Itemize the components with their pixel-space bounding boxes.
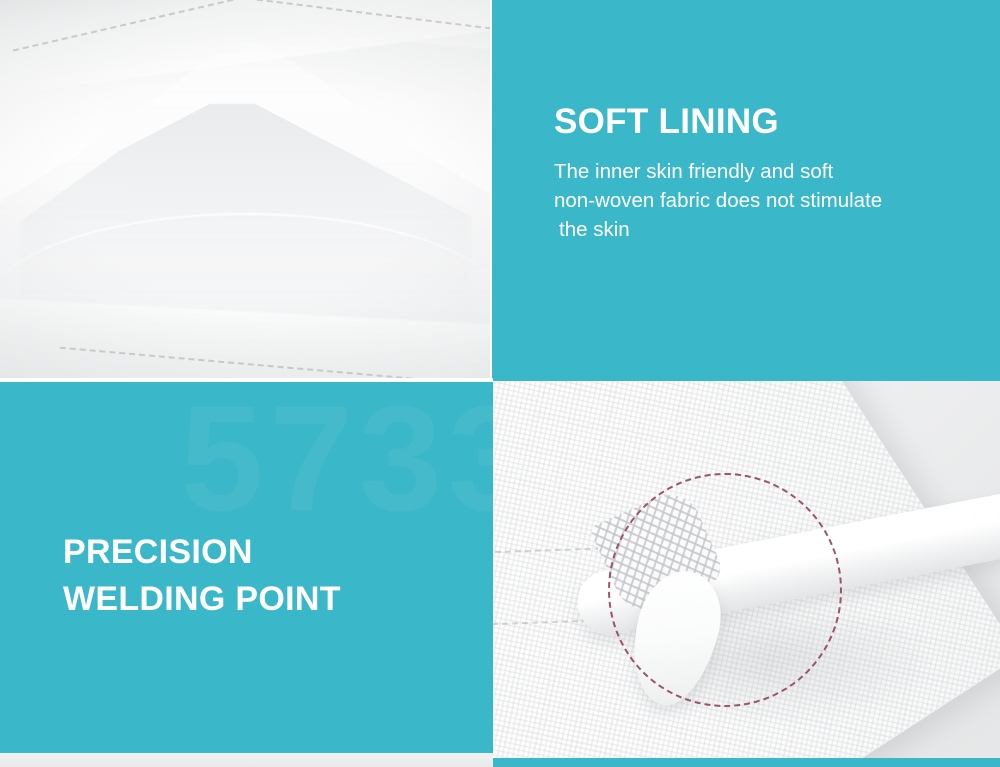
precision-welding-panel: 5733 PRECISION WELDING POINT bbox=[0, 381, 493, 753]
panel-divider-horizontal bbox=[0, 378, 493, 382]
welding-point-photo: 804 bbox=[493, 381, 1000, 758]
soft-lining-body-line-2: non-woven fabric does not stimulate bbox=[554, 186, 994, 215]
soft-lining-copy: SOFT LINING The inner skin friendly and … bbox=[554, 104, 994, 244]
soft-lining-body-line-3: the skin bbox=[554, 215, 994, 244]
lining-vignette bbox=[0, 0, 492, 381]
soft-lining-body-line-1: The inner skin friendly and soft bbox=[554, 157, 994, 186]
panel-divider-vertical bbox=[490, 0, 492, 381]
precision-welding-copy: PRECISION WELDING POINT bbox=[63, 529, 341, 623]
soft-lining-body: The inner skin friendly and soft non-wov… bbox=[554, 157, 994, 244]
soft-lining-panel: SOFT LINING The inner skin friendly and … bbox=[492, 0, 1000, 381]
bottom-left-strip bbox=[0, 753, 493, 767]
watermark-digits: 5733 bbox=[180, 383, 493, 533]
soft-lining-headline: SOFT LINING bbox=[554, 104, 994, 141]
mask-inner-lining-photo bbox=[0, 0, 492, 381]
lining-photo-art bbox=[0, 0, 492, 381]
bottom-right-strip bbox=[493, 758, 1000, 767]
precision-headline-line-1: PRECISION bbox=[63, 529, 341, 576]
precision-welding-headline: PRECISION WELDING POINT bbox=[63, 529, 341, 623]
feature-collage-page: SOFT LINING The inner skin friendly and … bbox=[0, 0, 1000, 767]
precision-headline-line-2: WELDING POINT bbox=[63, 576, 341, 623]
callout-circle-icon bbox=[608, 473, 842, 707]
